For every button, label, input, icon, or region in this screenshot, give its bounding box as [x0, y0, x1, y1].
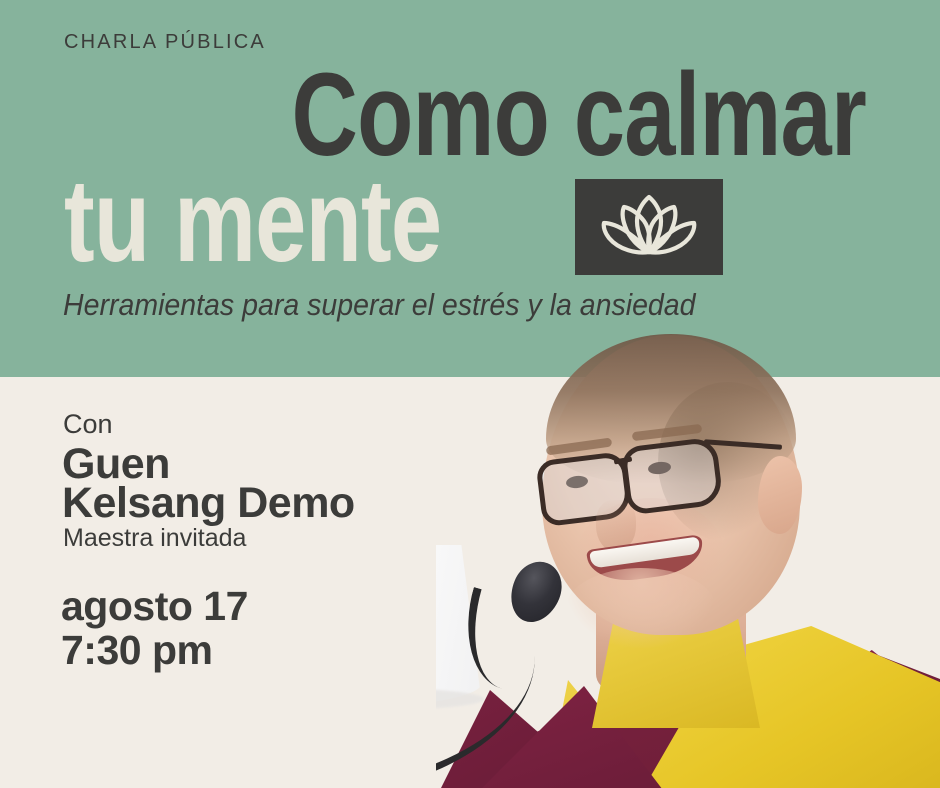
poster-canvas: CHARLA PÚBLICA Como calmar tu mente Herr…: [0, 0, 940, 788]
chin-highlight: [566, 568, 716, 648]
speaker-with-label: Con: [63, 409, 113, 440]
speaker-role: Maestra invitada: [63, 524, 246, 553]
subtitle: Herramientas para superar el estrés y la…: [63, 287, 696, 323]
lotus-icon: [597, 192, 701, 262]
lotus-badge: [575, 179, 723, 275]
eyebrow-label: CHARLA PÚBLICA: [64, 31, 266, 54]
event-time: 7:30 pm: [61, 627, 212, 674]
speaker-name-line-2: Kelsang Demo: [62, 479, 355, 528]
speaker-photo: [436, 330, 940, 788]
event-date: agosto 17: [61, 583, 248, 630]
headline-line-2: tu mente: [64, 162, 441, 280]
